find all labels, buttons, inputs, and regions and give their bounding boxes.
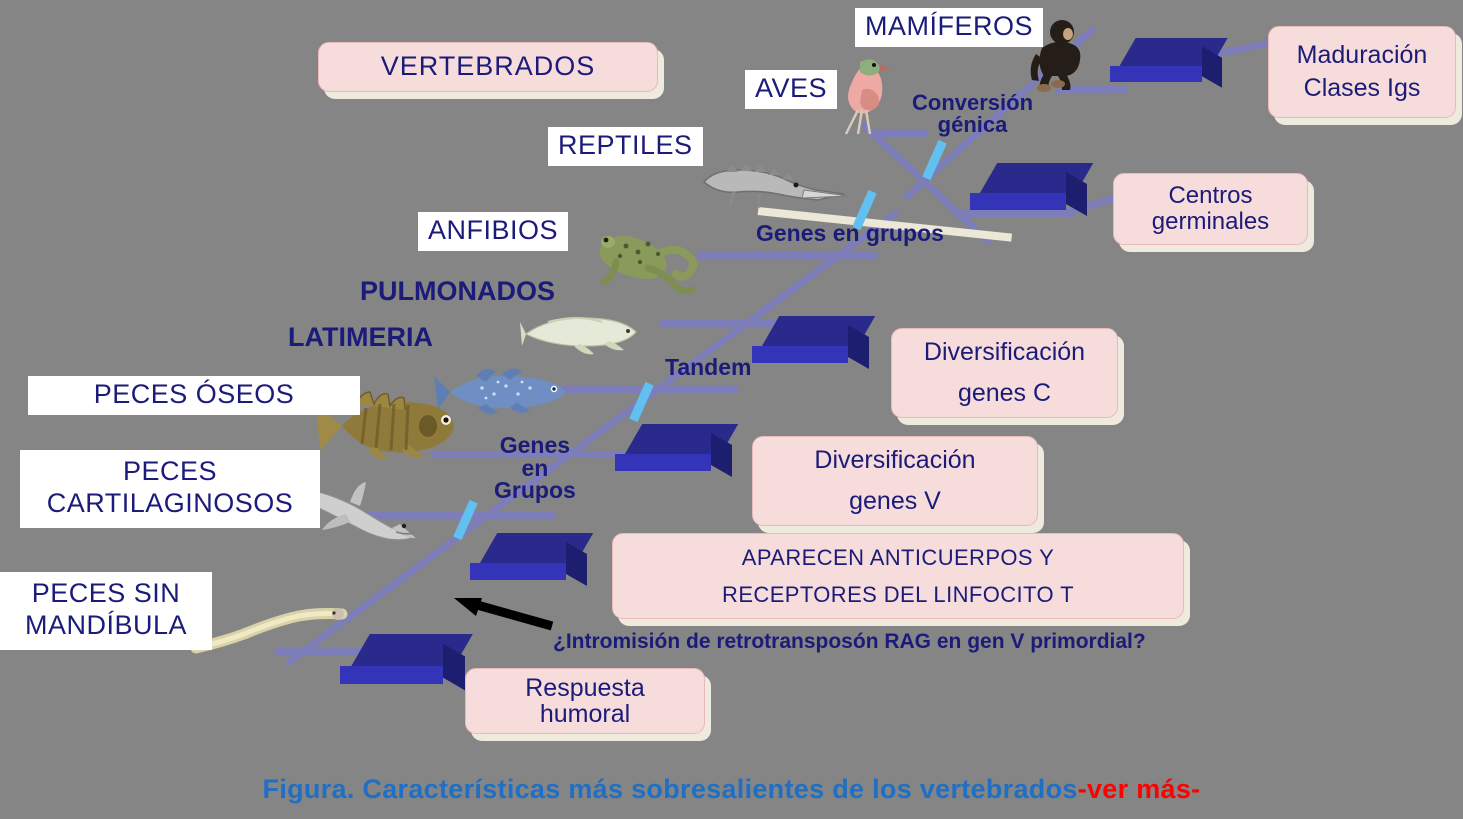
lungfish-image — [518, 310, 644, 356]
taxon-text-peces-sin-mandibula-line2: MANDÍBULA — [10, 610, 202, 642]
node-respuesta-humoral — [340, 634, 465, 690]
taxon-text-pulmonados: PULMONADOS — [360, 276, 555, 306]
event-text-tandem: Tandem — [665, 354, 751, 380]
taxon-label-peces-oseos[interactable]: PECES ÓSEOS — [28, 376, 360, 415]
taxon-text-reptiles: REPTILES — [558, 130, 693, 160]
callout-respuesta-line1: Respuesta — [525, 675, 645, 701]
callout-centros-line2: germinales — [1152, 209, 1269, 235]
bird-image — [836, 48, 894, 136]
event-text-genes-line2: en — [494, 457, 576, 480]
callout-maduracion-line1: Maduración — [1297, 39, 1428, 72]
event-label-conversion-genica: Conversión génica — [912, 92, 1033, 136]
event-text-genes-en-grupos-1: Genes en grupos — [756, 220, 944, 246]
taxon-label-latimeria[interactable]: LATIMERIA — [288, 322, 433, 353]
title-box-vertebrados[interactable]: VERTEBRADOS — [318, 42, 658, 92]
callout-maduracion-line2: Clases Igs — [1304, 72, 1421, 105]
taxon-label-pulmonados[interactable]: PULMONADOS — [360, 276, 555, 307]
taxon-label-peces-cartilaginosos[interactable]: PECES CARTILAGINOSOS — [20, 450, 320, 528]
node-aparecen-anticuerpos — [470, 533, 585, 585]
callout-maduracion-clases-igs[interactable]: Maduración Clases Igs — [1268, 26, 1456, 118]
node-diversificacion-genes-c — [752, 316, 867, 368]
figure-canvas: VERTEBRADOS MAMÍFEROS AVES REPTILES ANFI… — [0, 0, 1463, 819]
event-text-genes-line3: Grupos — [494, 479, 576, 502]
taxon-label-mamiferos[interactable]: MAMÍFEROS — [855, 8, 1043, 47]
event-label-tandem: Tandem — [665, 354, 751, 381]
callout-anticuerpos-line1: APARECEN ANTICUERPOS Y — [742, 543, 1054, 572]
callout-centros-line1: Centros — [1168, 183, 1252, 209]
callout-div-v-line2: genes V — [849, 485, 941, 518]
callout-anticuerpos-line2: RECEPTORES DEL LINFOCITO T — [722, 580, 1074, 609]
taxon-label-peces-sin-mandibula[interactable]: PECES SIN MANDÍBULA — [0, 572, 212, 650]
node-centros-germinales — [970, 163, 1085, 215]
lamprey-image — [190, 606, 350, 656]
taxon-label-aves[interactable]: AVES — [745, 70, 837, 109]
callout-respuesta-humoral[interactable]: Respuesta humoral — [465, 668, 705, 734]
callout-div-c-line1: Diversificación — [924, 336, 1085, 369]
callout-diversificacion-genes-v[interactable]: Diversificación genes V — [752, 436, 1038, 526]
taxon-text-peces-oseos: PECES ÓSEOS — [94, 379, 295, 409]
node-mamiferos — [1110, 38, 1220, 86]
event-label-genes-en-grupos-2: Genes en Grupos — [494, 434, 576, 502]
annotation-rag-question: ¿Intromisión de retrotransposón RAG en g… — [553, 630, 1146, 654]
taxon-label-reptiles[interactable]: REPTILES — [548, 127, 703, 166]
crocodile-image — [700, 160, 850, 216]
callout-div-v-line1: Diversificación — [814, 444, 975, 477]
annotation-rag-text: ¿Intromisión de retrotransposón RAG en g… — [553, 630, 1146, 653]
callout-respuesta-line2: humoral — [540, 701, 630, 727]
taxon-text-peces-cartilaginosos-line2: CARTILAGINOSOS — [30, 488, 310, 520]
branch-anfibios — [697, 252, 877, 259]
event-label-genes-en-grupos-1: Genes en grupos — [756, 220, 944, 247]
callout-centros-germinales[interactable]: Centros germinales — [1113, 173, 1308, 245]
figure-caption: Figura. Características más sobresalient… — [0, 774, 1463, 805]
caption-main-text: Figura. Características más sobresalient… — [263, 774, 1078, 804]
taxon-text-peces-sin-mandibula-line1: PECES SIN — [10, 578, 202, 610]
frog-image — [586, 222, 716, 294]
title-box-label: VERTEBRADOS — [381, 49, 596, 85]
event-text-genes-line1: Genes — [494, 434, 576, 457]
taxon-text-peces-cartilaginosos-line1: PECES — [30, 456, 310, 488]
taxon-text-aves: AVES — [755, 73, 827, 103]
taxon-text-mamiferos: MAMÍFEROS — [865, 11, 1033, 41]
node-diversificacion-genes-v — [615, 424, 730, 476]
callout-div-c-line2: genes C — [958, 377, 1051, 410]
event-text-conversion-line2: génica — [912, 114, 1033, 136]
callout-diversificacion-genes-c[interactable]: Diversificación genes C — [891, 328, 1118, 418]
event-text-conversion-line1: Conversión — [912, 92, 1033, 114]
caption-link-ver-mas[interactable]: -ver más- — [1078, 774, 1201, 804]
taxon-text-latimeria: LATIMERIA — [288, 322, 433, 352]
rag-arrow-icon — [448, 592, 558, 632]
callout-aparecen-anticuerpos[interactable]: APARECEN ANTICUERPOS Y RECEPTORES DEL LI… — [612, 533, 1184, 619]
taxon-label-anfibios[interactable]: ANFIBIOS — [418, 212, 568, 251]
taxon-text-anfibios: ANFIBIOS — [428, 215, 558, 245]
